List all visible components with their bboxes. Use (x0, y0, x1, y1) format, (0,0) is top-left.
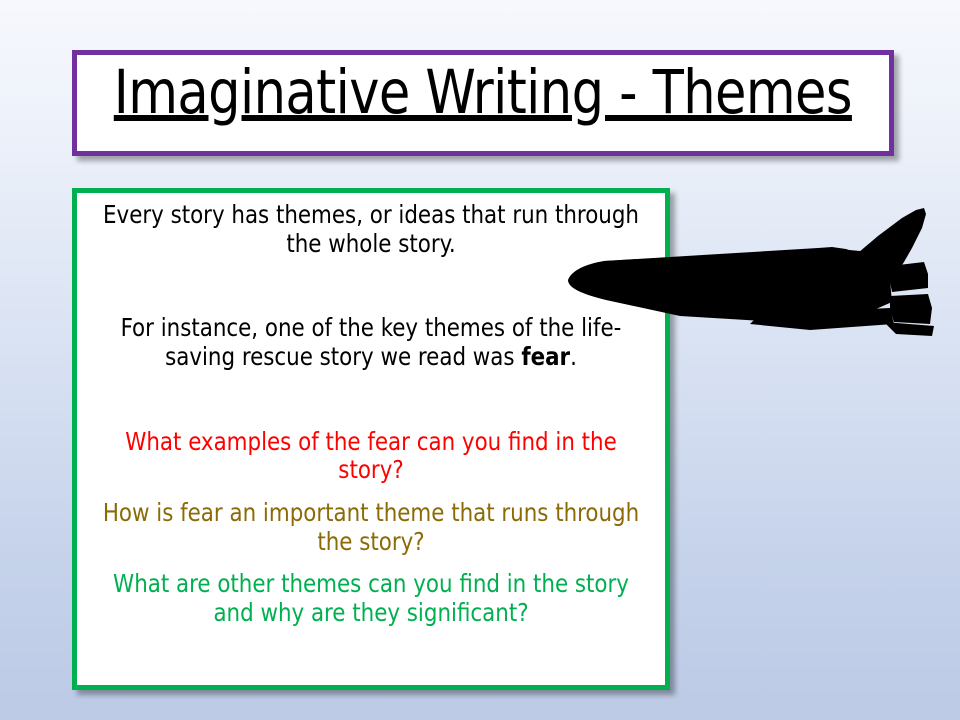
slide-canvas: Imaginative Writing - Themes Every story… (0, 0, 960, 720)
spacer (91, 258, 651, 314)
content-box: Every story has themes, or ideas that ru… (72, 188, 670, 690)
paragraph-example-tail: . (570, 342, 577, 371)
page-title: Imaginative Writing - Themes (114, 55, 852, 126)
spacer (91, 485, 651, 499)
question-1: What examples of the fear can you find i… (99, 428, 642, 485)
question-3: What are other themes can you find in th… (99, 570, 642, 627)
question-2: How is fear an important theme that runs… (99, 499, 642, 556)
paragraph-example: For instance, one of the key themes of t… (99, 314, 642, 371)
title-box: Imaginative Writing - Themes (72, 50, 894, 156)
paragraph-intro: Every story has themes, or ideas that ru… (99, 201, 642, 258)
spacer (91, 372, 651, 428)
spacer (91, 556, 651, 570)
keyword-fear: fear (521, 342, 570, 371)
